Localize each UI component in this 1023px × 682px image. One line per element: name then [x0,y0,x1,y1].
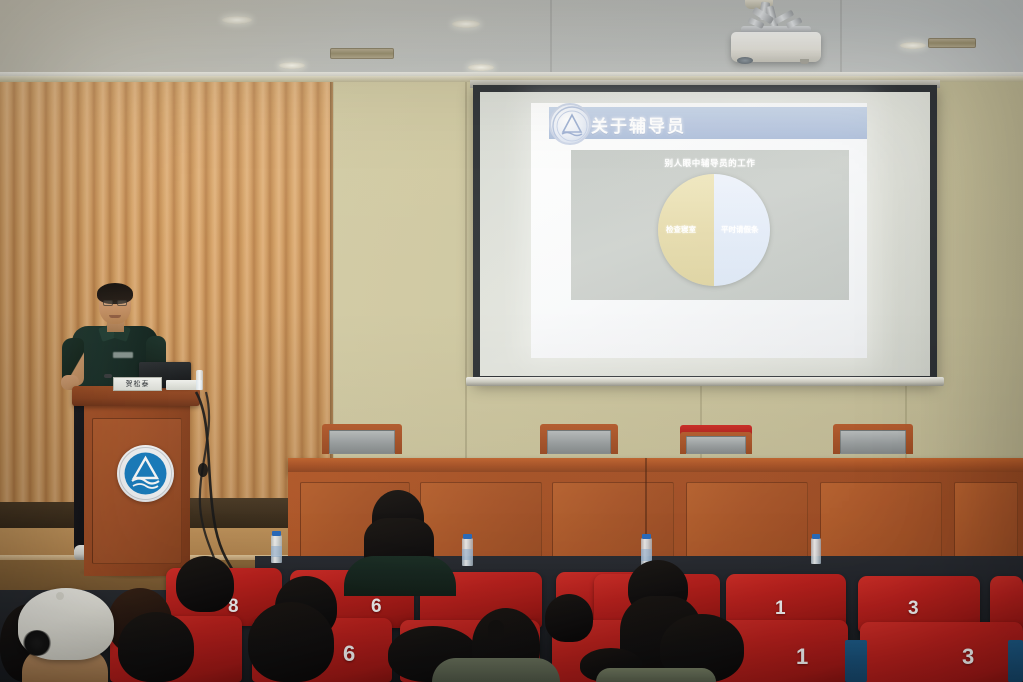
water-bottle [196,370,203,390]
ceiling-seam [550,0,552,76]
stage-chair-pad [686,436,746,454]
stage-chair-pad [329,430,395,454]
pie-slice-2-label: 平时请假条 [721,224,759,235]
screen-weight-bar [466,377,944,386]
glasses-icon [103,300,113,306]
audience-head [176,556,234,612]
ceiling-seam [840,0,842,72]
ceiling-light [222,16,252,24]
bottle-label [641,549,652,561]
university-crest-icon [549,103,591,145]
audience-head [545,594,593,642]
seat-number: 1 [775,598,786,620]
speaker-mouth [109,315,121,318]
ceiling-light [279,62,305,69]
table-panel [420,482,542,564]
nameplate-text: 贺松泰 [126,379,150,389]
ceiling-shading [0,0,1023,76]
cap-button-icon [56,592,64,600]
water-bottle [811,538,821,564]
speaker-shirt-logo [113,352,133,358]
seat-number: 6 [343,641,355,667]
table-panel [686,482,808,564]
projector-lens-icon [737,57,753,64]
seat-side-panel [845,640,867,682]
microphone-icon [104,374,112,378]
seat-number: 3 [908,598,919,620]
slide-title: 关于辅导员 [591,112,686,137]
table-panel [954,482,1018,564]
stage-chair-pad [840,430,906,454]
table-panel [820,482,942,564]
audience-shoulders [432,658,560,682]
seat-side-panel [1008,640,1023,682]
stage-chair-pad [547,430,611,454]
bottle-cap [272,531,281,536]
audience-shoulders [344,556,456,596]
bottle-cap [642,534,651,539]
seat-number: 3 [962,644,974,670]
bottle-cap [812,534,820,539]
bottle-label [271,546,282,557]
audience-head [118,612,194,682]
seat-number: 1 [796,644,808,670]
ceiling-vent [330,48,394,59]
audience-hair-tie [488,620,504,642]
university-emblem-icon [117,445,174,502]
glasses-bridge [113,302,117,303]
projected-slide: 关于辅导员 别人眼中辅导员的工作 检查寝室 平时请假条 [531,103,867,358]
ceiling-light [452,20,480,28]
seat-number: 6 [371,596,382,618]
ceiling-light [900,42,926,49]
slide-chart-panel: 别人眼中辅导员的工作 检查寝室 平时请假条 [571,150,849,300]
projector-foot [800,59,809,64]
glasses-icon [117,300,127,306]
auditorium-photo: 关于辅导员 别人眼中辅导员的工作 检查寝室 平时请假条 [0,0,1023,682]
bottle-label [462,549,473,560]
ceiling-vent [928,38,976,48]
bottle-cap [463,534,472,539]
audience-head [248,602,334,682]
table-panel [552,482,674,564]
cap-strap [22,630,52,656]
nameplate: 贺松泰 [113,377,162,391]
pie-slice-1-label: 检查寝室 [666,224,696,235]
chart-title: 别人眼中辅导员的工作 [571,157,849,169]
audience-shoulders [596,668,716,682]
seat[interactable] [860,622,1023,682]
ceiling-light [468,64,494,71]
